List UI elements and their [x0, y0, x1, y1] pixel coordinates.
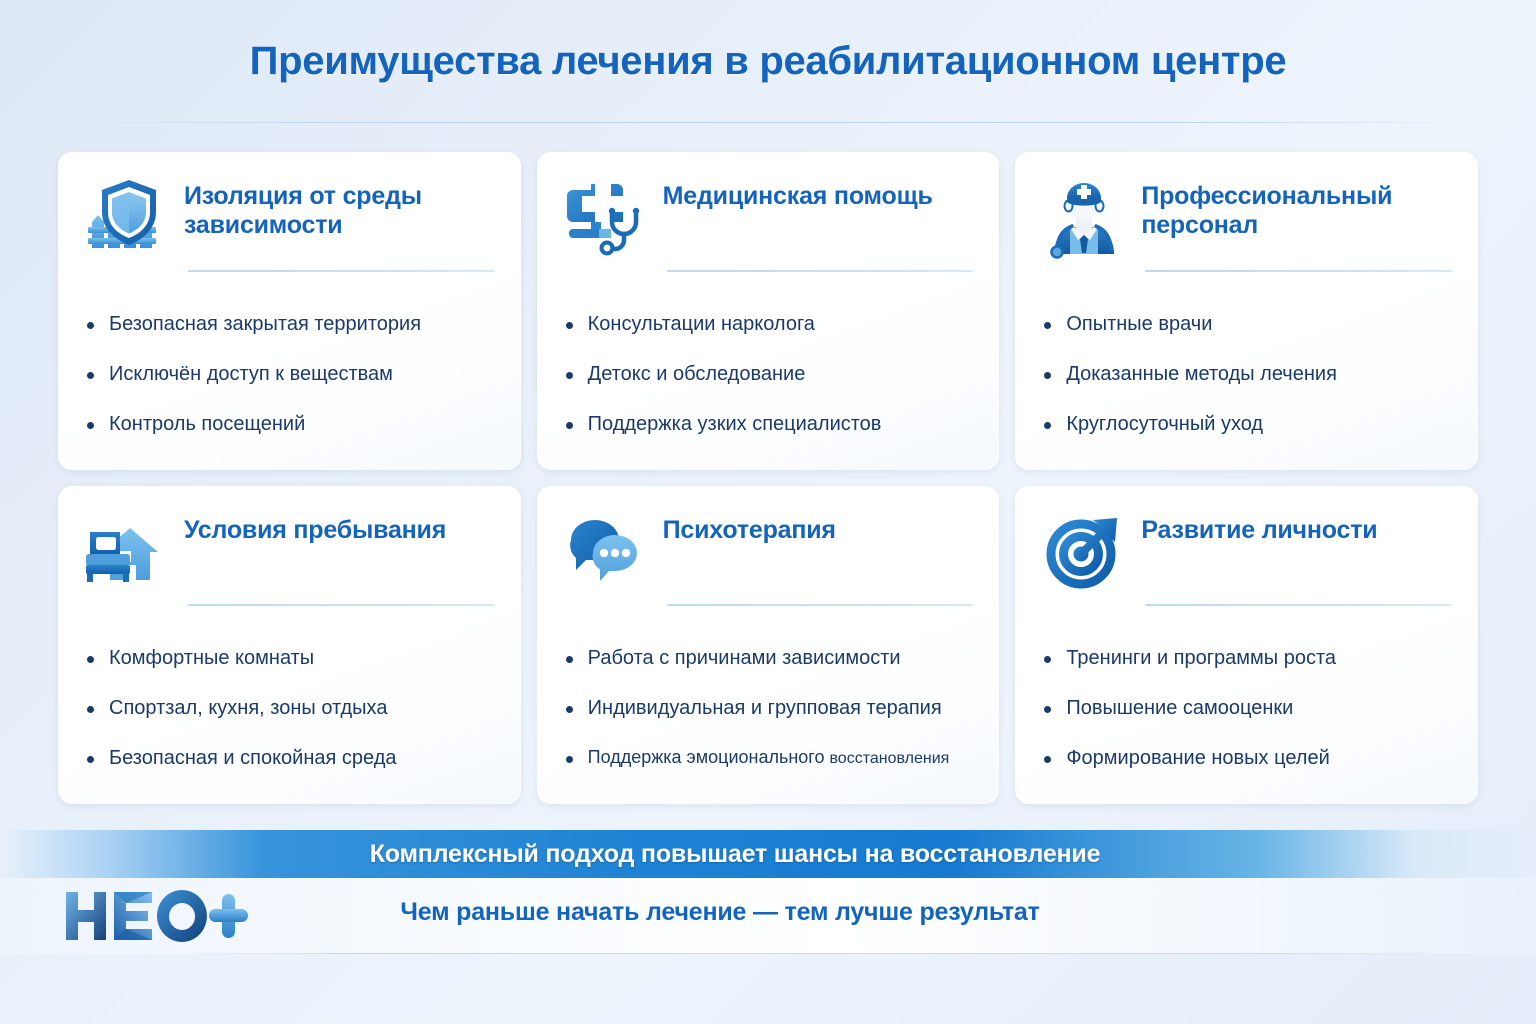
- list-item: Поддержка эмоционального восстановления: [563, 746, 974, 769]
- list-item: Работа с причинами зависимости: [563, 646, 974, 671]
- list-item: Спортзал, кухня, зоны отдыха: [84, 696, 495, 721]
- list-item: Консультации нарколога: [563, 312, 974, 337]
- card-medical-help: Медицинская помощь Консультации нарколог…: [537, 152, 1000, 470]
- card-title: Изоляция от среды зависимости: [184, 174, 495, 240]
- list-item: Повышение самооценки: [1041, 696, 1452, 721]
- shield-fence-icon: [84, 174, 170, 260]
- card-divider: [1145, 270, 1452, 272]
- target-arrow-icon: [1041, 508, 1127, 594]
- list-item: Тренинги и программы роста: [1041, 646, 1452, 671]
- page-title: Преимущества лечения в реабилитационном …: [0, 38, 1536, 84]
- doctor-icon: [1041, 174, 1127, 260]
- card-divider: [1145, 604, 1452, 606]
- card-header: Медицинская помощь: [563, 174, 974, 260]
- footer-tagline: Чем раньше начать лечение — тем лучше ре…: [0, 898, 1488, 927]
- list-item: Контроль посещений: [84, 412, 495, 437]
- list-item: Безопасная и спокойная среда: [84, 746, 495, 771]
- benefit-list: Консультации нарколога Детокс и обследов…: [563, 312, 974, 437]
- card-header: Психотерапия: [563, 508, 974, 594]
- card-title: Психотерапия: [663, 508, 836, 545]
- card-professional-staff: Профессиональный персонал Опытные врачи …: [1015, 152, 1478, 470]
- benefit-list: Безопасная закрытая территория Исключён …: [84, 312, 495, 437]
- card-isolation: Изоляция от среды зависимости Безопасная…: [58, 152, 521, 470]
- card-header: Условия пребывания: [84, 508, 495, 594]
- list-item: Исключён доступ к веществам: [84, 362, 495, 387]
- speech-bubbles-icon: [563, 508, 649, 594]
- list-item: Формирование новых целей: [1041, 746, 1452, 771]
- card-personal-development: Развитие личности Тренинги и программы р…: [1015, 486, 1478, 804]
- card-psychotherapy: Психотерапия Работа с причинами зависимо…: [537, 486, 1000, 804]
- banner-text: Комплексный подход повышает шансы на вос…: [370, 840, 1101, 869]
- header-divider: [60, 122, 1476, 123]
- benefits-grid: Изоляция от среды зависимости Безопасная…: [58, 152, 1478, 804]
- card-title: Медицинская помощь: [663, 174, 933, 211]
- benefit-list: Комфортные комнаты Спортзал, кухня, зоны…: [84, 646, 495, 771]
- card-title: Профессиональный персонал: [1141, 174, 1452, 240]
- benefit-list: Опытные врачи Доказанные методы лечения …: [1041, 312, 1452, 437]
- list-item: Комфортные комнаты: [84, 646, 495, 671]
- list-item: Поддержка узких специалистов: [563, 412, 974, 437]
- card-divider: [188, 270, 495, 272]
- card-title: Развитие личности: [1141, 508, 1377, 545]
- card-header: Профессиональный персонал: [1041, 174, 1452, 260]
- card-divider: [667, 270, 974, 272]
- card-title: Условия пребывания: [184, 508, 446, 545]
- card-header: Развитие личности: [1041, 508, 1452, 594]
- list-item: Индивидуальная и групповая терапия: [563, 696, 974, 721]
- benefit-list: Работа с причинами зависимости Индивидуа…: [563, 646, 974, 769]
- summary-banner: Комплексный подход повышает шансы на вос…: [0, 830, 1536, 878]
- list-item: Опытные врачи: [1041, 312, 1452, 337]
- medical-kit-stethoscope-icon: [563, 174, 649, 260]
- list-item: Безопасная закрытая территория: [84, 312, 495, 337]
- bed-house-icon: [84, 508, 170, 594]
- card-divider: [188, 604, 495, 606]
- list-item-lead: Поддержка эмоционального: [588, 747, 830, 767]
- list-item-tail: восстановления: [829, 750, 949, 767]
- infographic-page: Преимущества лечения в реабилитационном …: [0, 0, 1536, 1024]
- card-header: Изоляция от среды зависимости: [84, 174, 495, 260]
- list-item: Круглосуточный уход: [1041, 412, 1452, 437]
- list-item: Детокс и обследование: [563, 362, 974, 387]
- list-item: Доказанные методы лечения: [1041, 362, 1452, 387]
- header: Преимущества лечения в реабилитационном …: [0, 0, 1536, 84]
- benefit-list: Тренинги и программы роста Повышение сам…: [1041, 646, 1452, 771]
- card-accommodation: Условия пребывания Комфортные комнаты Сп…: [58, 486, 521, 804]
- card-divider: [667, 604, 974, 606]
